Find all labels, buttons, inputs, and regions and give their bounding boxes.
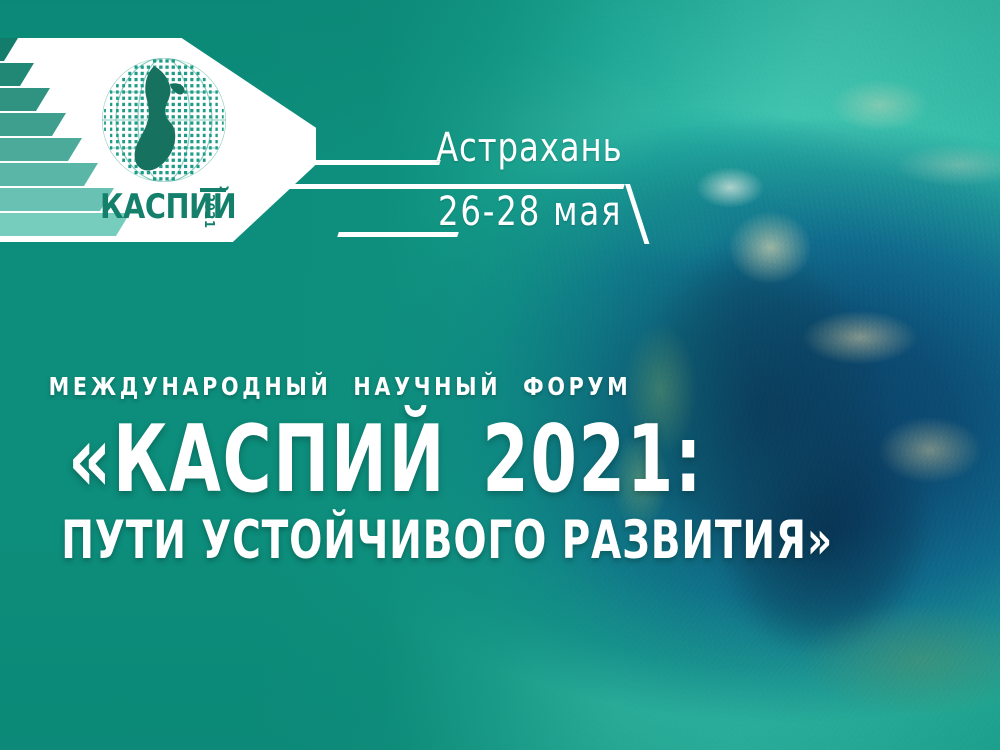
- stripe: [0, 163, 98, 186]
- forum-eyebrow-label: МЕЖДУНАРОДНЫЙ НАУЧНЫЙ ФОРУМ: [27, 372, 653, 401]
- event-dates-label: 26-28 мая: [438, 192, 622, 232]
- logo-year-label: 2021: [201, 194, 216, 229]
- decorative-rule-top: [309, 160, 441, 165]
- forum-headline: «КАСПИЙ 2021:: [68, 415, 612, 504]
- main-title-block: МЕЖДУНАРОДНЫЙ НАУЧНЫЙ ФОРУМ «КАСПИЙ 2021…: [0, 372, 680, 567]
- logo-year-group: 2021: [200, 188, 226, 222]
- forum-subheadline: ПУТИ УСТОЙЧИВОГО РАЗВИТИЯ»: [61, 514, 619, 567]
- logo-year-rule: [200, 188, 226, 192]
- stripe: [0, 138, 82, 161]
- stripe: [0, 113, 66, 136]
- poster-root: КАСПИЙ 2021 Астрахань 26-28 мая МЕЖДУНАР…: [0, 0, 1000, 750]
- stripe: [0, 63, 34, 86]
- stripe: [0, 88, 50, 111]
- stripe: [0, 38, 18, 61]
- event-header-info: Астрахань 26-28 мая: [300, 140, 680, 250]
- event-city-label: Астрахань: [436, 128, 623, 168]
- caspian-forum-logo[interactable]: КАСПИЙ 2021: [96, 52, 236, 232]
- dotted-globe-icon: [96, 52, 232, 188]
